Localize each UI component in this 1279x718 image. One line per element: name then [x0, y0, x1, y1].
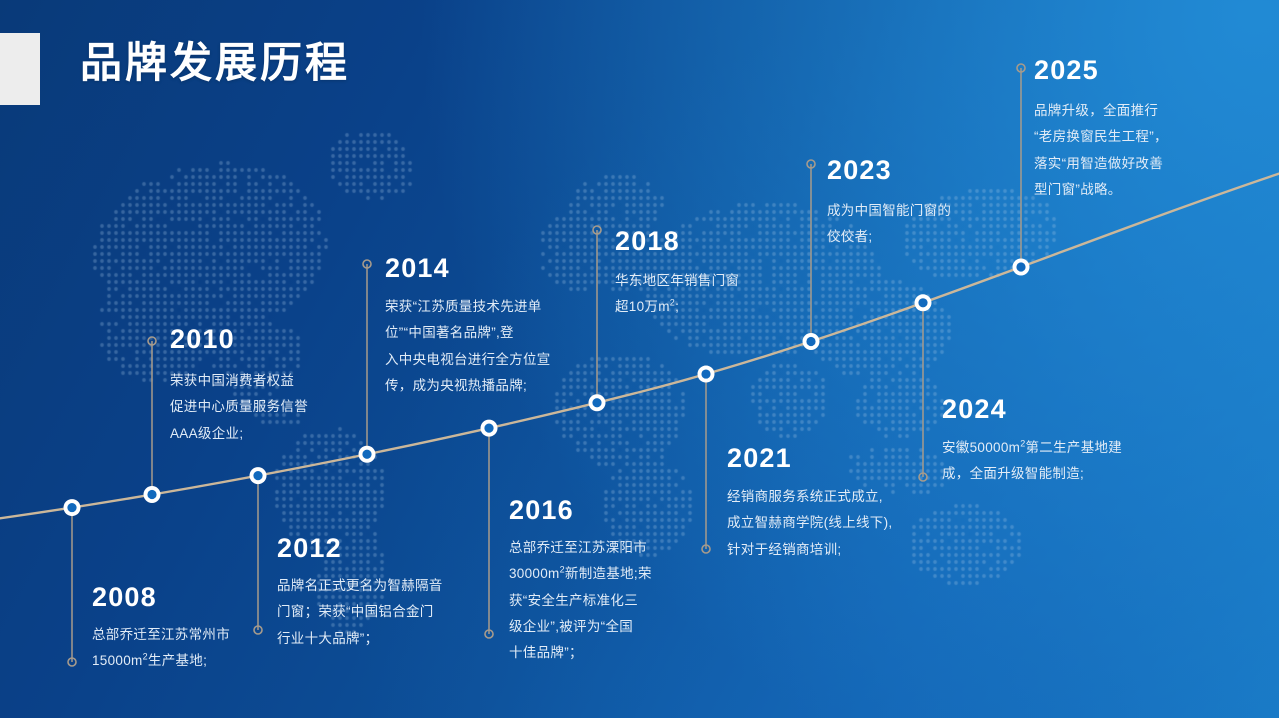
timeline-description-line: 成为中国智能门窗的: [827, 198, 1067, 224]
timeline-description-line: 荣获中国消费者权益: [170, 368, 400, 394]
page-title: 品牌发展历程: [80, 38, 350, 88]
timeline-description-line: 成立智赫商学院(线上线下),: [727, 510, 977, 536]
timeline-description-line: 行业十大品牌”；: [277, 626, 527, 652]
timeline-description-line: 获“安全生产标准化三: [509, 588, 759, 614]
connector-endpoint-2025: [1017, 64, 1025, 72]
timeline-description-2021: 经销商服务系统正式成立,成立智赫商学院(线上线下),针对于经销商培训;: [727, 484, 977, 563]
timeline-node-hit-2012[interactable]: [247, 465, 269, 487]
timeline-description-2010: 荣获中国消费者权益促进中心质量服务信誉AAA级企业;: [170, 368, 400, 447]
timeline-node-hit-2010[interactable]: [141, 484, 163, 506]
timeline-description-line: 型门窗”战略。: [1034, 177, 1274, 203]
timeline-description-line: 超10万m2;: [615, 294, 855, 320]
timeline-description-line: 总部乔迁至江苏溧阳市: [509, 535, 759, 561]
timeline-description-line: 位”“中国著名品牌”,登: [385, 320, 635, 346]
connector-endpoint-2024: [919, 473, 927, 481]
connector-endpoint-2018: [593, 226, 601, 234]
timeline-year-2008: 2008: [92, 582, 157, 613]
timeline-node-hit-2014[interactable]: [356, 443, 378, 465]
timeline-year-2014: 2014: [385, 253, 450, 284]
timeline-description-line: 15000m2生产基地;: [92, 648, 322, 674]
timeline-description-2024: 安徽50000m2第二生产基地建成，全面升级智能制造;: [942, 435, 1202, 488]
timeline-year-2023: 2023: [827, 155, 892, 186]
timeline-description-2012: 品牌名正式更名为智赫隔音门窗；荣获“中国铝合金门行业十大品牌”；: [277, 573, 527, 652]
timeline-year-2025: 2025: [1034, 55, 1099, 86]
timeline-node-hit-2008[interactable]: [61, 497, 83, 519]
timeline-node-hit-2025[interactable]: [1010, 256, 1032, 278]
timeline-description-line: 入中央电视台进行全方位宣: [385, 347, 635, 373]
timeline-node-hit-2018[interactable]: [586, 392, 608, 414]
timeline-description-line: 针对于经销商培训;: [727, 537, 977, 563]
timeline-description-line: 门窗；荣获“中国铝合金门: [277, 599, 527, 625]
timeline-node-hit-2016[interactable]: [478, 417, 500, 439]
header-accent-bar: [0, 33, 40, 105]
connector-endpoint-2014: [363, 260, 371, 268]
timeline-description-2014: 荣获“江苏质量技术先进单位”“中国著名品牌”,登入中央电视台进行全方位宣传，成为…: [385, 294, 635, 399]
timeline-description-2018: 华东地区年销售门窗超10万m2;: [615, 268, 855, 321]
connector-endpoint-2023: [807, 160, 815, 168]
timeline-node-hit-2021[interactable]: [695, 363, 717, 385]
timeline-description-line: 经销商服务系统正式成立,: [727, 484, 977, 510]
timeline-description-line: 华东地区年销售门窗: [615, 268, 855, 294]
timeline-description-line: 品牌升级，全面推行: [1034, 98, 1274, 124]
timeline-year-2024: 2024: [942, 394, 1007, 425]
timeline-description-line: 30000m2新制造基地;荣: [509, 561, 759, 587]
timeline-description-line: 荣获“江苏质量技术先进单: [385, 294, 635, 320]
timeline-description-2023: 成为中国智能门窗的佼佼者;: [827, 198, 1067, 251]
timeline-description-2025: 品牌升级，全面推行“老房换窗民生工程”，落实“用智造做好改善型门窗”战略。: [1034, 98, 1274, 203]
slide-canvas: 品牌发展历程 2008总部乔迁至江苏常州市15000m2生产基地;2010荣获中…: [0, 0, 1279, 718]
timeline-description-line: 安徽50000m2第二生产基地建: [942, 435, 1202, 461]
timeline-year-2012: 2012: [277, 533, 342, 564]
timeline-description-line: “老房换窗民生工程”，: [1034, 124, 1274, 150]
timeline-year-2021: 2021: [727, 443, 792, 474]
timeline-description-line: 落实“用智造做好改善: [1034, 151, 1274, 177]
timeline-node-hit-2024[interactable]: [912, 292, 934, 314]
timeline-description-line: 促进中心质量服务信誉: [170, 394, 400, 420]
timeline-year-2010: 2010: [170, 324, 235, 355]
timeline-node-hit-2023[interactable]: [800, 331, 822, 353]
timeline-description-line: 十佳品牌”；: [509, 640, 759, 666]
timeline-year-2016: 2016: [509, 495, 574, 526]
connector-endpoint-2008: [68, 658, 76, 666]
connector-endpoint-2010: [148, 337, 156, 345]
timeline-description-line: 品牌名正式更名为智赫隔音: [277, 573, 527, 599]
timeline-description-2016: 总部乔迁至江苏溧阳市30000m2新制造基地;荣获“安全生产标准化三级企业”,被…: [509, 535, 759, 667]
timeline-description-line: 成，全面升级智能制造;: [942, 461, 1202, 487]
timeline-description-line: 佼佼者;: [827, 224, 1067, 250]
timeline-year-2018: 2018: [615, 226, 680, 257]
timeline-description-line: 级企业”,被评为“全国: [509, 614, 759, 640]
